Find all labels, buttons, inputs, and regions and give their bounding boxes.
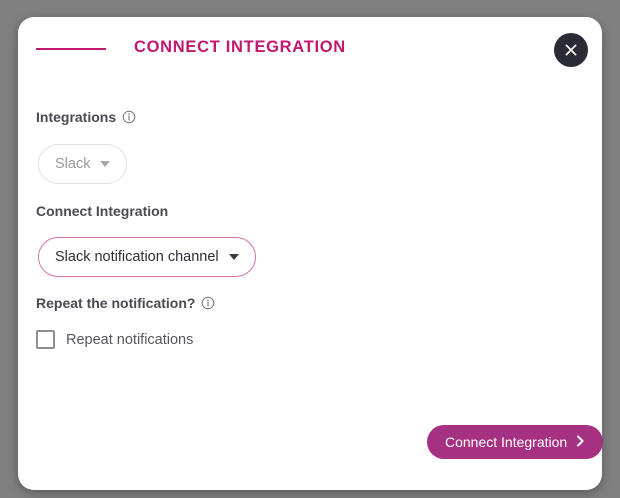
integrations-label-text: Integrations — [36, 109, 116, 125]
connect-integration-label: Connect Integration — [36, 203, 168, 219]
connect-integration-label-text: Connect Integration — [36, 203, 168, 219]
connect-integration-submit-label: Connect Integration — [445, 434, 567, 450]
close-icon — [564, 43, 578, 57]
modal-header: CONNECT INTEGRATION — [18, 17, 602, 87]
repeat-notifications-checkbox-label: Repeat notifications — [66, 332, 193, 348]
integrations-select-value: Slack — [55, 156, 90, 172]
integrations-select[interactable]: Slack — [38, 144, 127, 184]
chevron-down-icon — [100, 161, 110, 167]
chevron-down-icon — [229, 254, 239, 260]
title-accent-rule — [36, 48, 106, 50]
page-title: CONNECT INTEGRATION — [134, 38, 346, 57]
integrations-label: Integrations — [36, 109, 136, 125]
repeat-notifications-checkbox[interactable] — [36, 330, 55, 349]
connect-integration-select-value: Slack notification channel — [55, 249, 219, 265]
repeat-notification-label-text: Repeat the notification? — [36, 295, 195, 311]
connect-integration-modal: CONNECT INTEGRATION Integrations Slack — [18, 17, 602, 490]
repeat-notification-label: Repeat the notification? — [36, 295, 215, 311]
info-icon[interactable] — [201, 296, 215, 310]
connect-integration-select[interactable]: Slack notification channel — [38, 237, 256, 277]
info-icon[interactable] — [122, 110, 136, 124]
chevron-right-icon — [576, 434, 585, 450]
connect-integration-submit-button[interactable]: Connect Integration — [427, 425, 603, 459]
close-button[interactable] — [554, 33, 588, 67]
repeat-notifications-checkbox-row[interactable]: Repeat notifications — [36, 330, 193, 349]
